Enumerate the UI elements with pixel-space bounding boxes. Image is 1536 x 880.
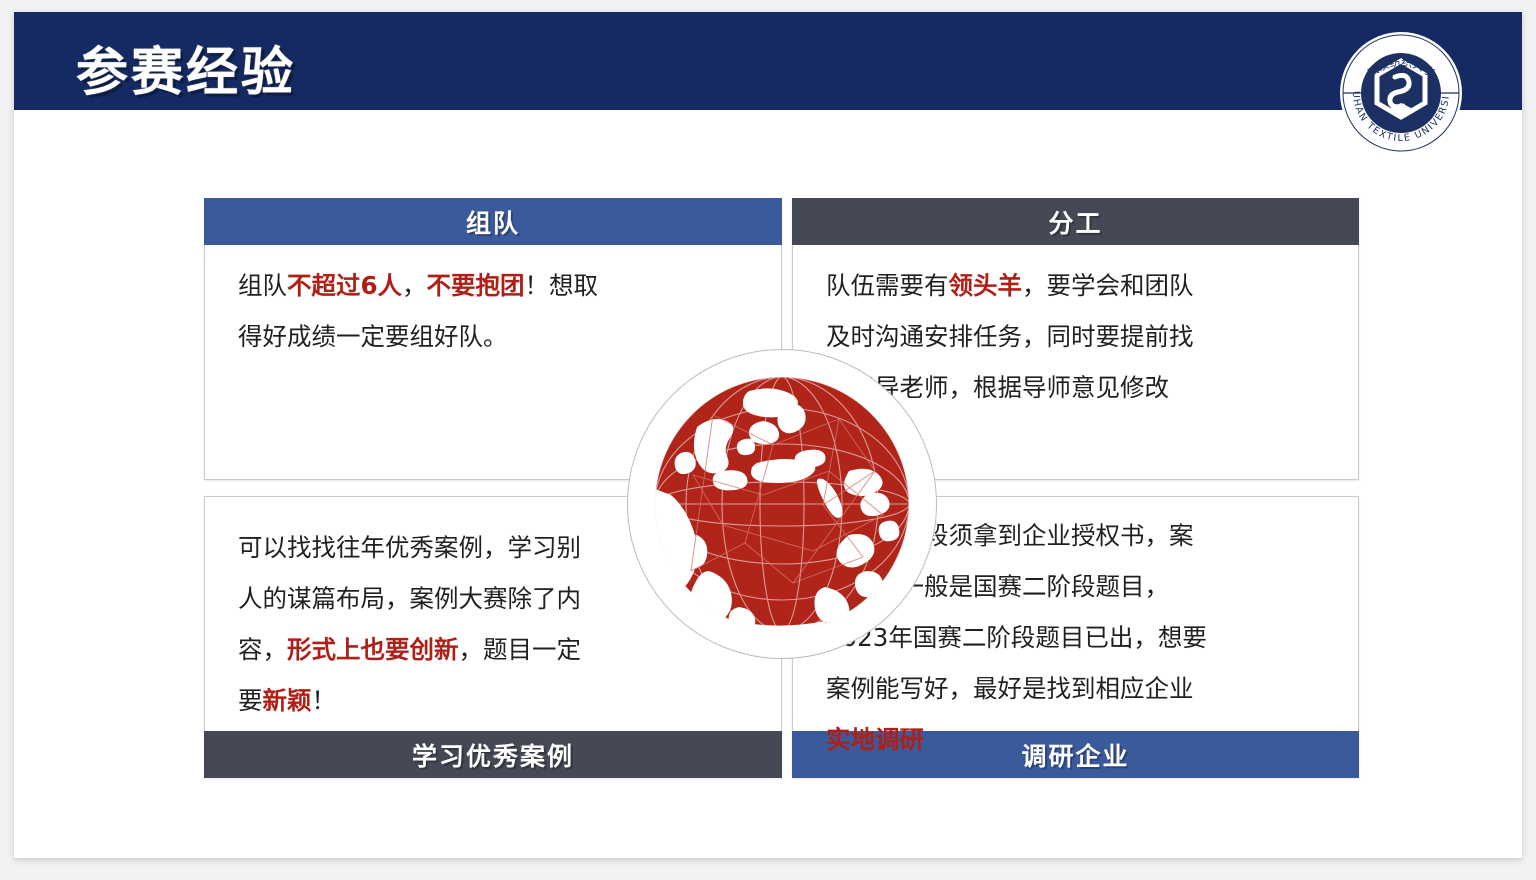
plain-text: 及时沟通安排任务，同时要提前找 xyxy=(826,322,1194,351)
plain-text: ， xyxy=(402,271,427,300)
plain-text: 队伍需要有 xyxy=(826,271,949,300)
plain-text: 人的谋篇布局，案例大赛除了内 xyxy=(238,584,581,613)
plain-text: 组队 xyxy=(238,271,287,300)
plain-text: 容， xyxy=(238,635,287,664)
plain-text: ！想取 xyxy=(525,271,599,300)
slide-canvas: 参赛经验 武汉纺织大学 WUHAN TEXTILE UNIVERSITY xyxy=(14,12,1522,858)
plain-text: 案例能写好，最好是找到相应企业 xyxy=(826,674,1194,703)
plain-text: 可以找找往年优秀案例，学习别 xyxy=(238,533,581,562)
quadrant-header-fengong: 分工 xyxy=(792,198,1359,245)
page-title: 参赛经验 xyxy=(76,30,296,105)
quadrant-header-xuexiyouxiuanli: 学习优秀案例 xyxy=(204,731,782,778)
highlight-text: 形式上也要创新 xyxy=(287,635,459,664)
quadrant-header-zudui: 组队 xyxy=(204,198,782,245)
plain-text: 要 xyxy=(238,686,263,715)
highlight-text: 不要抱团 xyxy=(427,271,525,300)
plain-text: ！ xyxy=(312,686,337,715)
highlight-text: 领头羊 xyxy=(949,271,1023,300)
highlight-text: 实地调研 xyxy=(826,725,924,754)
highlight-text: 新颖 xyxy=(263,686,312,715)
plain-text: ，题目一定 xyxy=(459,635,582,664)
body-line: 实地调研 xyxy=(826,714,1325,765)
body-line: 案例能写好，最好是找到相应企业 xyxy=(826,663,1325,714)
quadrant-board: 组队 组队不超过6人，不要抱团！想取得好成绩一定要组好队。 分工 队伍需要有领头… xyxy=(14,110,1522,858)
body-line: 要新颖！ xyxy=(238,675,748,726)
globe-icon xyxy=(653,375,911,633)
plain-text: 得好成绩一定要组好队。 xyxy=(238,322,508,351)
plain-text: ，要学会和团队 xyxy=(1022,271,1194,300)
highlight-text: 不超过6人 xyxy=(287,271,402,300)
body-line: 组队不超过6人，不要抱团！想取 xyxy=(238,260,748,311)
center-globe xyxy=(627,349,937,659)
body-line: 队伍需要有领头羊，要学会和团队 xyxy=(826,260,1325,311)
quadrant-body-text: 组队不超过6人，不要抱团！想取得好成绩一定要组好队。 xyxy=(204,260,782,362)
